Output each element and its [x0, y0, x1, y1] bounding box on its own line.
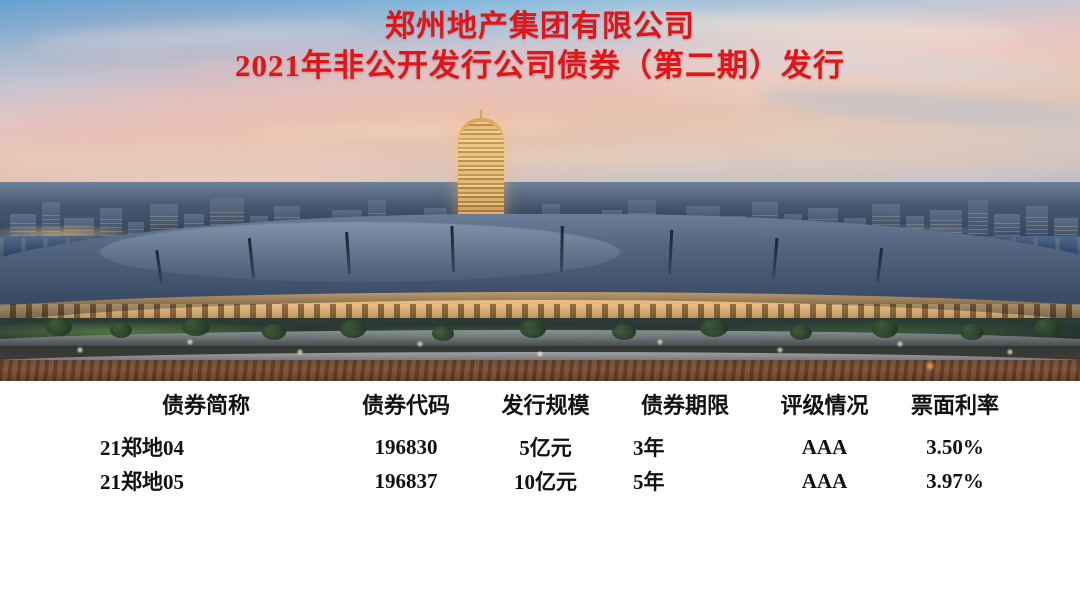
tree — [790, 325, 812, 340]
cell-bond-code: 196837 — [334, 464, 478, 498]
cell-bond-name: 21郑地05 — [78, 464, 334, 498]
cell-rating: AAA — [757, 464, 892, 498]
table-header-row: 债券简称 债券代码 发行规模 债券期限 评级情况 票面利率 — [78, 385, 1018, 430]
cell-bond-code: 196830 — [334, 430, 478, 464]
tree — [612, 324, 636, 340]
bond-detail-area: 债券简称 债券代码 发行规模 债券期限 评级情况 票面利率 21郑地04 196… — [0, 381, 1080, 608]
column-header-rating: 评级情况 — [757, 385, 892, 430]
cell-bond-term: 5年 — [613, 464, 757, 498]
tree — [872, 320, 898, 338]
cell-issue-size: 5亿元 — [478, 430, 613, 464]
column-header-issue-size: 发行规模 — [478, 385, 613, 430]
cell-coupon-rate: 3.50% — [892, 430, 1018, 464]
bond-issuance-poster: 郑州地产集团有限公司 2021年非公开发行公司债券（第二期）发行 债券简称 债券… — [0, 0, 1080, 608]
column-header-coupon-rate: 票面利率 — [892, 385, 1018, 430]
table-row: 21郑地04 196830 5亿元 3年 AAA 3.50% — [78, 430, 1018, 464]
cell-issue-size: 10亿元 — [478, 464, 613, 498]
bond-table: 债券简称 债券代码 发行规模 债券期限 评级情况 票面利率 21郑地04 196… — [78, 385, 1018, 498]
tree — [182, 318, 210, 336]
column-header-bond-term: 债券期限 — [613, 385, 757, 430]
tree — [960, 324, 984, 340]
tree — [520, 320, 546, 338]
column-header-bond-code: 债券代码 — [334, 385, 478, 430]
cell-bond-name: 21郑地04 — [78, 430, 334, 464]
tree — [432, 326, 454, 341]
tree — [700, 319, 728, 337]
tree — [1034, 319, 1060, 337]
tree — [340, 320, 366, 338]
cell-bond-term: 3年 — [613, 430, 757, 464]
stadium-dome-crest — [100, 222, 620, 282]
cell-rating: AAA — [757, 430, 892, 464]
city-skyline-photo — [0, 0, 1080, 381]
tree — [262, 324, 286, 340]
table-row: 21郑地05 196837 10亿元 5年 AAA 3.97% — [78, 464, 1018, 498]
tree — [46, 318, 72, 336]
tree — [110, 322, 132, 338]
column-header-bond-name: 债券简称 — [78, 385, 334, 430]
cell-coupon-rate: 3.97% — [892, 464, 1018, 498]
